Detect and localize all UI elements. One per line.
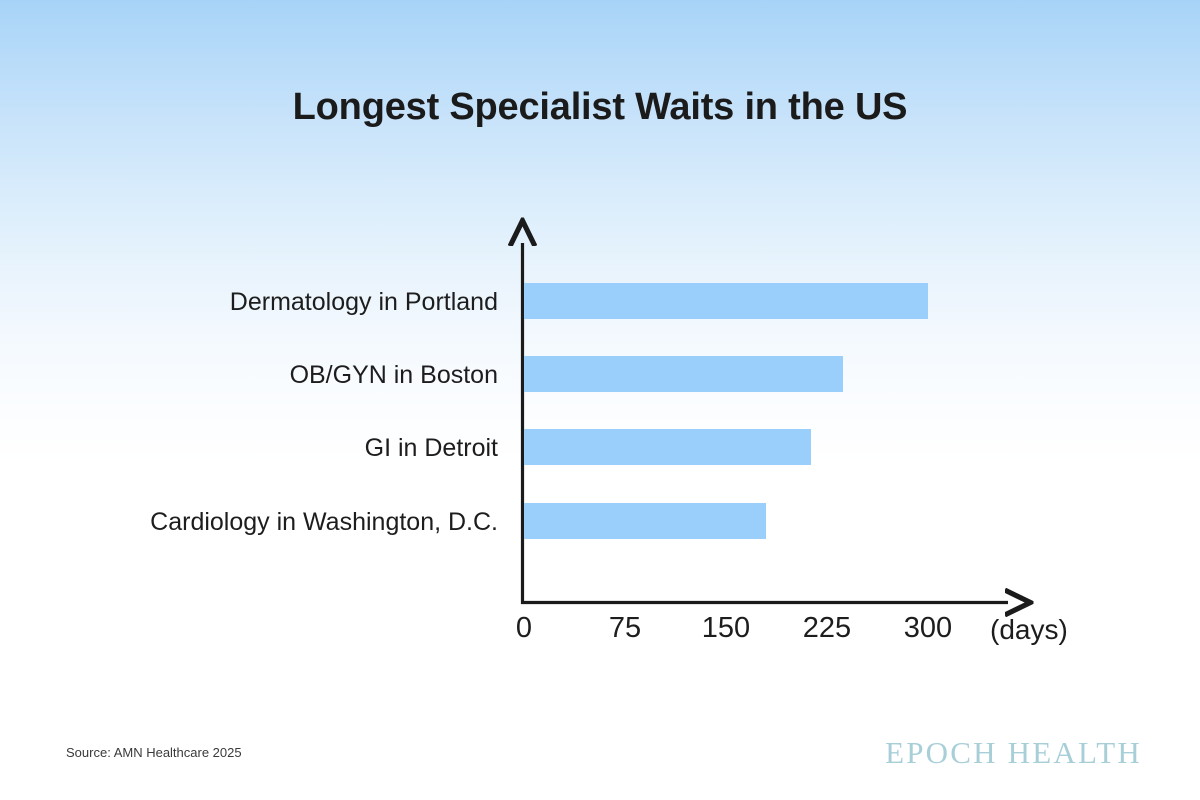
xtick-label-75: 75 — [609, 612, 641, 645]
bar-obgyn — [524, 356, 843, 392]
xtick-label-225: 225 — [803, 612, 851, 645]
bar-gi — [524, 429, 811, 465]
plot-area: Dermatology in Portland OB/GYN in Boston… — [0, 0, 1200, 800]
source-note: Source: AMN Healthcare 2025 — [66, 745, 242, 760]
category-label-obgyn: OB/GYN in Boston — [290, 363, 498, 388]
brand-logo: EPOCH HEALTH — [885, 735, 1142, 771]
category-label-gi: GI in Detroit — [365, 436, 498, 461]
xtick-label-150: 150 — [702, 612, 750, 645]
axes-svg — [0, 0, 1200, 800]
bar-cardiology — [524, 503, 766, 539]
bar-dermatology — [524, 283, 928, 319]
category-label-dermatology: Dermatology in Portland — [230, 290, 498, 315]
chart-canvas: Longest Specialist Waits in the US Derma… — [0, 0, 1200, 800]
xtick-label-300: 300 — [904, 612, 952, 645]
x-axis-unit-label: (days) — [990, 614, 1068, 646]
category-label-cardiology: Cardiology in Washington, D.C. — [150, 510, 498, 535]
xtick-label-0: 0 — [516, 612, 532, 645]
